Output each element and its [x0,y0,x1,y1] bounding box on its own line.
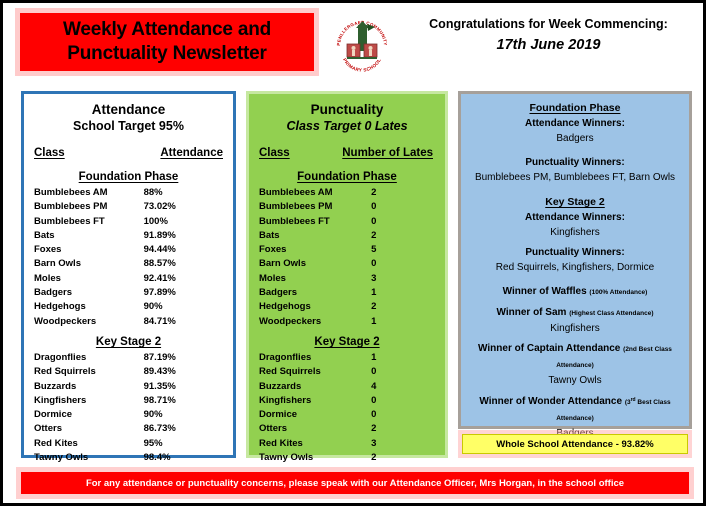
punctuality-value: 2 [347,300,435,314]
attendance-panel: Attendance School Target 95% Class Atten… [21,91,236,458]
table-row: Barn Owls88.57% [24,257,233,271]
punctuality-group-ks2: Key Stage 2 [249,336,445,348]
punctuality-value: 2 [347,422,435,436]
winners-panel: Foundation Phase Attendance Winners: Bad… [458,91,692,429]
ks2-punctuality-winners-label: Punctuality Winners: [469,245,681,260]
punctuality-value: 5 [347,243,435,257]
punctuality-value: 0 [347,200,435,214]
punctuality-class-name: Foxes [259,243,347,257]
punctuality-rows-ks2: Dragonflies1Red Squirrels0Buzzards4Kingf… [249,351,445,465]
punctuality-value: 2 [347,186,435,200]
table-row: Buzzards91.35% [24,380,233,394]
fp-punctuality-winners-label: Punctuality Winners: [469,155,681,170]
attendance-value: 73.02% [144,200,223,214]
page-title-line2: Punctuality Newsletter [67,42,266,66]
week-commencing-date: 17th June 2019 [401,35,696,55]
newsletter-page: Weekly Attendance and Punctuality Newsle… [0,0,706,506]
table-row: Bats91.89% [24,229,233,243]
punctuality-class-name: Red Kites [259,437,347,451]
winner-of-sam-note: (Highest Class Attendance) [569,310,653,317]
table-row: Bats2 [249,229,445,243]
table-row: Otters86.73% [24,422,233,436]
punctuality-column-headers: Class Number of Lates [249,135,445,159]
table-row: Dragonflies87.19% [24,351,233,365]
punctuality-value: 0 [347,257,435,271]
footer-notice: For any attendance or punctuality concer… [21,472,689,494]
table-row: Buzzards4 [249,380,445,394]
punctuality-value: 0 [347,365,435,379]
punctuality-class-name: Woodpeckers [259,315,347,329]
punctuality-value: 2 [347,451,435,465]
attendance-column-headers: Class Attendance [24,135,233,159]
punctuality-class-name: Buzzards [259,380,347,394]
attendance-class-name: Barn Owls [34,257,144,271]
attendance-col-value: Attendance [160,147,223,159]
whole-school-attendance-badge: Whole School Attendance - 93.82% [462,434,688,454]
table-row: Dragonflies1 [249,351,445,365]
table-row: Badgers1 [249,286,445,300]
punctuality-class-name: Dragonflies [259,351,347,365]
attendance-subheading: School Target 95% [24,118,233,135]
table-row: Foxes94.44% [24,243,233,257]
punctuality-panel-header: Punctuality Class Target 0 Lates [249,94,445,135]
table-row: Woodpeckers1 [249,315,445,329]
fp-punctuality-winners-value: Bumblebees PM, Bumblebees FT, Barn Owls [469,170,681,185]
punctuality-value: 0 [347,215,435,229]
attendance-value: 87.19% [144,351,223,365]
ks2-attendance-winners-value: Kingfishers [469,225,681,240]
fp-attendance-winners-label: Attendance Winners: [469,116,681,131]
attendance-value: 91.35% [144,380,223,394]
svg-text:PRIMARY SCHOOL: PRIMARY SCHOOL [342,57,382,72]
winner-of-sam-row: Winner of Sam (Highest Class Attendance) [469,305,681,321]
winner-of-sam-value: Kingfishers [469,321,681,336]
attendance-value: 92.41% [144,272,223,286]
attendance-class-name: Red Squirrels [34,365,144,379]
attendance-value: 89.43% [144,365,223,379]
whole-school-attendance-text: Whole School Attendance - 93.82% [496,439,653,450]
winners-ks2-title: Key Stage 2 [469,194,681,210]
punctuality-panel: Punctuality Class Target 0 Lates Class N… [246,91,448,458]
attendance-value: 97.89% [144,286,223,300]
attendance-class-name: Tawny Owls [34,451,144,465]
attendance-class-name: Kingfishers [34,394,144,408]
table-row: Bumblebees FT0 [249,215,445,229]
punctuality-value: 4 [347,380,435,394]
attendance-rows-ks2: Dragonflies87.19%Red Squirrels89.43%Buzz… [24,351,233,465]
ks2-punctuality-winners-value: Red Squirrels, Kingfishers, Dormice [469,260,681,275]
attendance-class-name: Red Kites [34,437,144,451]
punctuality-class-name: Kingfishers [259,394,347,408]
attendance-value: 86.73% [144,422,223,436]
winner-of-wonder-attendance-row: Winner of Wonder Attendance (3rd Best Cl… [469,393,681,426]
attendance-class-name: Dragonflies [34,351,144,365]
attendance-value: 91.89% [144,229,223,243]
attendance-value: 98.71% [144,394,223,408]
table-row: Bumblebees FT100% [24,215,233,229]
punctuality-col-value: Number of Lates [342,147,433,159]
table-row: Hedgehogs2 [249,300,445,314]
punctuality-value: 1 [347,286,435,300]
newsletter-title-box: Weekly Attendance and Punctuality Newsle… [20,13,314,71]
table-row: Moles3 [249,272,445,286]
punctuality-value: 2 [347,229,435,243]
punctuality-value: 3 [347,272,435,286]
attendance-value: 84.71% [144,315,223,329]
attendance-col-class: Class [34,147,65,159]
winners-foundation-title: Foundation Phase [469,100,681,116]
winner-of-captain-attendance-value: Tawny Owls [469,373,681,388]
table-row: Tawny Owls98.4% [24,451,233,465]
attendance-value: 94.44% [144,243,223,257]
attendance-group-foundation: Foundation Phase [24,171,233,183]
attendance-value: 90% [144,408,223,422]
attendance-class-name: Moles [34,272,144,286]
punctuality-class-name: Red Squirrels [259,365,347,379]
attendance-class-name: Hedgehogs [34,300,144,314]
punctuality-class-name: Hedgehogs [259,300,347,314]
punctuality-group-foundation: Foundation Phase [249,171,445,183]
congratulations-block: Congratulations for Week Commencing: 17t… [401,15,696,55]
attendance-value: 100% [144,215,223,229]
school-logo: PENLLERGAER COMMUNITY PRIMARY SCHOOL [333,13,391,73]
table-row: Kingfishers98.71% [24,394,233,408]
table-row: Barn Owls0 [249,257,445,271]
header: Weekly Attendance and Punctuality Newsle… [3,3,703,85]
table-row: Foxes5 [249,243,445,257]
table-row: Bumblebees PM0 [249,200,445,214]
table-row: Woodpeckers84.71% [24,315,233,329]
punctuality-heading: Punctuality [249,101,445,118]
attendance-class-name: Bumblebees FT [34,215,144,229]
punctuality-class-name: Moles [259,272,347,286]
punctuality-col-class: Class [259,147,290,159]
table-row: Dormice0 [249,408,445,422]
winner-of-sam-label: Winner of Sam [497,307,567,318]
punctuality-value: 1 [347,351,435,365]
fp-attendance-winners-value: Badgers [469,131,681,146]
attendance-value: 88% [144,186,223,200]
table-row: Red Kites3 [249,437,445,451]
winner-of-waffles-row: Winner of Waffles (100% Attendance) [469,284,681,300]
footer-notice-text: For any attendance or punctuality concer… [86,478,624,489]
attendance-panel-header: Attendance School Target 95% [24,94,233,135]
attendance-class-name: Buzzards [34,380,144,394]
attendance-class-name: Otters [34,422,144,436]
table-row: Dormice90% [24,408,233,422]
table-row: Hedgehogs90% [24,300,233,314]
punctuality-value: 0 [347,408,435,422]
punctuality-class-name: Bats [259,229,347,243]
attendance-class-name: Bumblebees PM [34,200,144,214]
winner-of-captain-attendance-label: Winner of Captain Attendance [478,343,620,354]
table-row: Otters2 [249,422,445,436]
attendance-heading: Attendance [24,101,233,118]
table-row: Kingfishers0 [249,394,445,408]
punctuality-class-name: Bumblebees PM [259,200,347,214]
punctuality-class-name: Tawny Owls [259,451,347,465]
table-row: Red Squirrels89.43% [24,365,233,379]
attendance-class-name: Dormice [34,408,144,422]
winner-of-captain-attendance-row: Winner of Captain Attendance (2nd Best C… [469,341,681,373]
punctuality-class-name: Bumblebees AM [259,186,347,200]
punctuality-class-name: Otters [259,422,347,436]
attendance-value: 98.4% [144,451,223,465]
punctuality-value: 3 [347,437,435,451]
spacer [469,146,681,155]
table-row: Moles92.41% [24,272,233,286]
attendance-group-ks2: Key Stage 2 [24,336,233,348]
table-row: Tawny Owls2 [249,451,445,465]
attendance-class-name: Bumblebees AM [34,186,144,200]
table-row: Badgers97.89% [24,286,233,300]
spacer [469,185,681,194]
punctuality-class-name: Barn Owls [259,257,347,271]
attendance-rows-foundation: Bumblebees AM88%Bumblebees PM73.02%Bumbl… [24,186,233,329]
punctuality-value: 1 [347,315,435,329]
punctuality-subheading: Class Target 0 Lates [249,118,445,135]
attendance-class-name: Badgers [34,286,144,300]
spacer [469,275,681,284]
winner-of-waffles-note: (100% Attendance) [589,289,647,296]
table-row: Bumblebees PM73.02% [24,200,233,214]
table-row: Bumblebees AM2 [249,186,445,200]
punctuality-rows-foundation: Bumblebees AM2Bumblebees PM0Bumblebees F… [249,186,445,329]
punctuality-class-name: Bumblebees FT [259,215,347,229]
attendance-class-name: Woodpeckers [34,315,144,329]
attendance-class-name: Foxes [34,243,144,257]
attendance-value: 95% [144,437,223,451]
punctuality-class-name: Badgers [259,286,347,300]
winner-of-waffles-label: Winner of Waffles [503,286,587,297]
punctuality-value: 0 [347,394,435,408]
attendance-value: 90% [144,300,223,314]
winner-of-wonder-attendance-label: Winner of Wonder Attendance [479,396,622,407]
attendance-class-name: Bats [34,229,144,243]
table-row: Red Squirrels0 [249,365,445,379]
table-row: Red Kites95% [24,437,233,451]
punctuality-class-name: Dormice [259,408,347,422]
page-title-line1: Weekly Attendance and [63,18,271,42]
attendance-value: 88.57% [144,257,223,271]
congratulations-label: Congratulations for Week Commencing: [401,15,696,33]
ks2-attendance-winners-label: Attendance Winners: [469,210,681,225]
table-row: Bumblebees AM88% [24,186,233,200]
